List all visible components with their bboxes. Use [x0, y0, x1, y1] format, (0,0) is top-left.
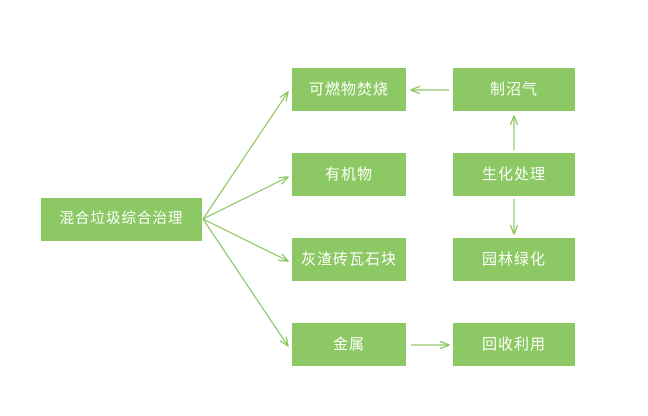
edge-arrow-root-organic [203, 177, 288, 219]
node-biogas-production[interactable]: 制沼气 [453, 68, 575, 111]
node-combustible-incineration[interactable]: 可燃物焚烧 [292, 68, 406, 111]
edge-arrow-root-metal [203, 219, 288, 346]
node-organic-matter[interactable]: 有机物 [292, 153, 406, 196]
edge-arrow-root-burn [203, 92, 288, 219]
node-root-mixed-waste[interactable]: 混合垃圾综合治理 [41, 198, 202, 241]
node-recycling-reuse[interactable]: 回收利用 [453, 323, 575, 366]
node-label: 金属 [333, 337, 365, 352]
diagram-canvas: 混合垃圾综合治理 可燃物焚烧 有机物 灰渣砖瓦石块 金属 制沼气 生化处理 园林… [0, 0, 648, 416]
node-metal[interactable]: 金属 [292, 323, 406, 366]
edge-arrow-root-ash [203, 219, 288, 261]
node-ash-bricks-stones[interactable]: 灰渣砖瓦石块 [292, 238, 406, 281]
node-label: 混合垃圾综合治理 [60, 212, 184, 227]
node-label: 有机物 [325, 167, 373, 182]
node-label: 可燃物焚烧 [309, 82, 389, 97]
node-label: 生化处理 [482, 167, 546, 182]
node-landscaping[interactable]: 园林绿化 [453, 238, 575, 281]
node-label: 制沼气 [490, 82, 538, 97]
node-label: 灰渣砖瓦石块 [301, 252, 397, 267]
node-label: 园林绿化 [482, 252, 546, 267]
node-biochemical-treatment[interactable]: 生化处理 [453, 153, 575, 196]
node-label: 回收利用 [482, 337, 546, 352]
